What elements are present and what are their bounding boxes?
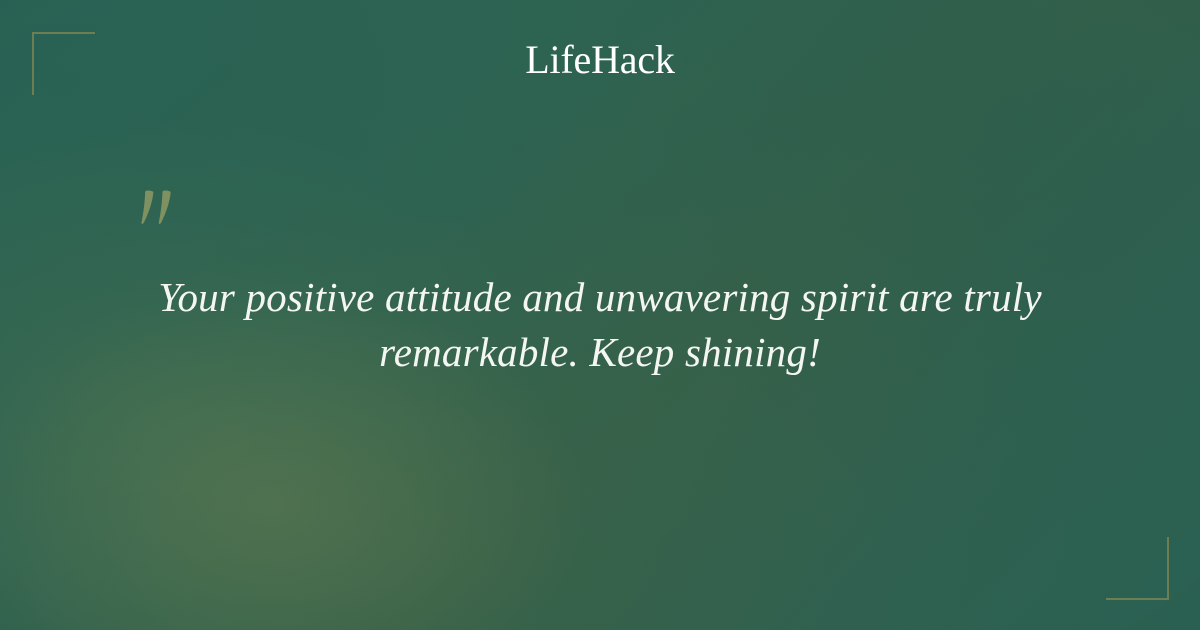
quote-open-icon	[134, 190, 178, 238]
brand-logo: LifeHack	[0, 39, 1200, 81]
quote-text: Your positive attitude and unwavering sp…	[150, 270, 1050, 379]
corner-bracket-bottom-right-icon	[1106, 537, 1169, 600]
quote-card: LifeHack Your positive attitude and unwa…	[0, 0, 1200, 630]
